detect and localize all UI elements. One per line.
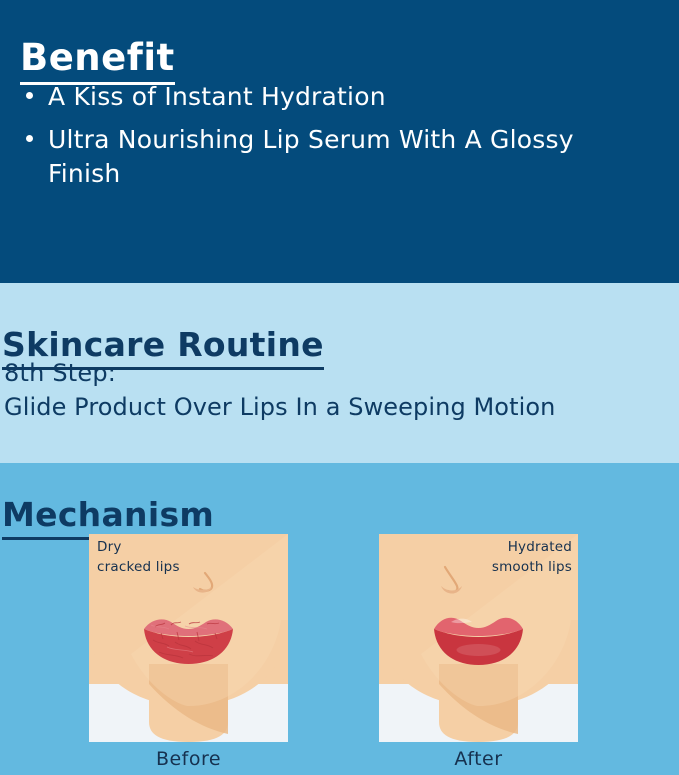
benefit-section: Benefit A Kiss of Instant Hydration Ultr… [0, 0, 679, 283]
benefit-list: A Kiss of Instant Hydration Ultra Nouris… [18, 80, 638, 200]
lip-serum-infographic: Benefit A Kiss of Instant Hydration Ultr… [0, 0, 679, 775]
after-face-card: Hydrated smooth lips [379, 534, 578, 742]
after-card-caption: Hydrated smooth lips [492, 538, 572, 577]
caption-line-2: cracked lips [97, 558, 180, 578]
list-item: A Kiss of Instant Hydration [18, 80, 638, 113]
mechanism-section: Mechanism [0, 463, 679, 775]
caption-line-1: Dry [97, 538, 180, 558]
after-card-label: After [379, 748, 578, 770]
before-face-card: Dry cracked lips [89, 534, 288, 742]
caption-line-2: smooth lips [492, 558, 572, 578]
before-card-caption: Dry cracked lips [97, 538, 180, 577]
benefit-item-text: A Kiss of Instant Hydration [48, 82, 386, 111]
bullet-icon [26, 135, 33, 142]
bullet-icon [26, 92, 33, 99]
skincare-routine-section: Skincare Routine 8th Step: Glide Product… [0, 283, 679, 463]
list-item: Ultra Nourishing Lip Serum With A Glossy… [18, 123, 638, 190]
benefit-heading: Benefit [20, 39, 175, 85]
benefit-item-text: Ultra Nourishing Lip Serum With A Glossy… [48, 125, 574, 187]
routine-instruction-text: Glide Product Over Lips In a Sweeping Mo… [4, 393, 555, 421]
before-card-label: Before [89, 748, 288, 770]
caption-line-1: Hydrated [492, 538, 572, 558]
routine-step-number: 8th Step: [4, 359, 116, 387]
